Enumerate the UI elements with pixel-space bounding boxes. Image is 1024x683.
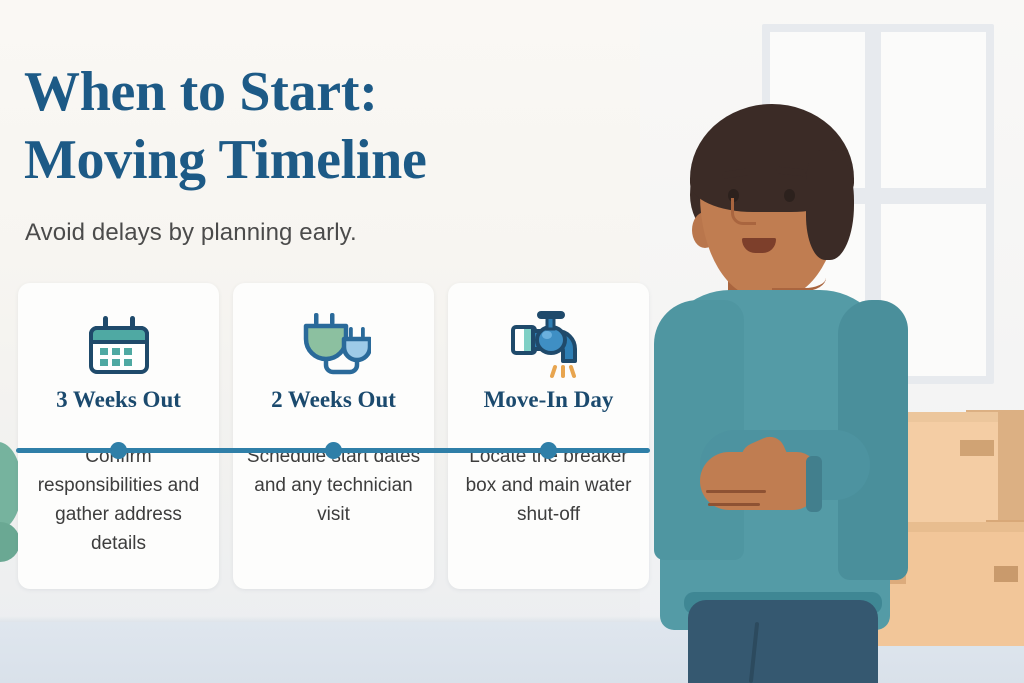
timeline-card-3-weeks[interactable]: 3 Weeks Out Confirm responsibilities and… (18, 283, 219, 589)
timeline-card-title: Move-In Day (484, 387, 614, 413)
window-pane-top-right (881, 32, 986, 188)
person-hand (700, 452, 818, 510)
timeline-dot-3-weeks[interactable] (110, 442, 127, 459)
timeline-card-list: 3 Weeks Out Confirm responsibilities and… (18, 283, 650, 589)
person-wrist-cuff (806, 456, 822, 512)
timeline-card-body: Confirm responsibilities and gather addr… (18, 443, 219, 559)
faucet-icon (509, 305, 589, 383)
electric-plug-icon (297, 305, 371, 383)
person-jaw-line (772, 258, 826, 291)
person-nose (731, 198, 756, 225)
calendar-icon (85, 305, 153, 383)
timeline-card-2-weeks[interactable]: 2 Weeks Out Schedule start dates and any… (233, 283, 434, 589)
infographic-canvas: When to Start: Moving Timeline Avoid del… (0, 0, 1024, 683)
person-pants (688, 600, 878, 683)
moving-box-top-lip (902, 412, 998, 422)
timeline-dot-2-weeks[interactable] (325, 442, 342, 459)
page-title: When to Start: Moving Timeline (24, 58, 624, 195)
person-finger-line-upper (706, 490, 766, 493)
page-subtitle: Avoid delays by planning early. (25, 219, 357, 247)
moving-box-top-tape (960, 440, 994, 456)
timeline-card-move-in-day[interactable]: Move-In Day Locate the breaker box and m… (448, 283, 649, 589)
person-hair-side (806, 150, 854, 260)
moving-box-top (902, 418, 998, 530)
page-title-line-2: Moving Timeline (24, 126, 624, 194)
moving-box-bottom-tape-side (994, 566, 1018, 582)
timeline-dot-move-in-day[interactable] (540, 442, 557, 459)
person-finger-line-lower (708, 503, 760, 506)
person-eye-right (784, 189, 795, 202)
timeline-card-title: 3 Weeks Out (56, 387, 181, 413)
timeline-card-title: 2 Weeks Out (271, 387, 396, 413)
page-title-line-1: When to Start: (24, 58, 624, 126)
